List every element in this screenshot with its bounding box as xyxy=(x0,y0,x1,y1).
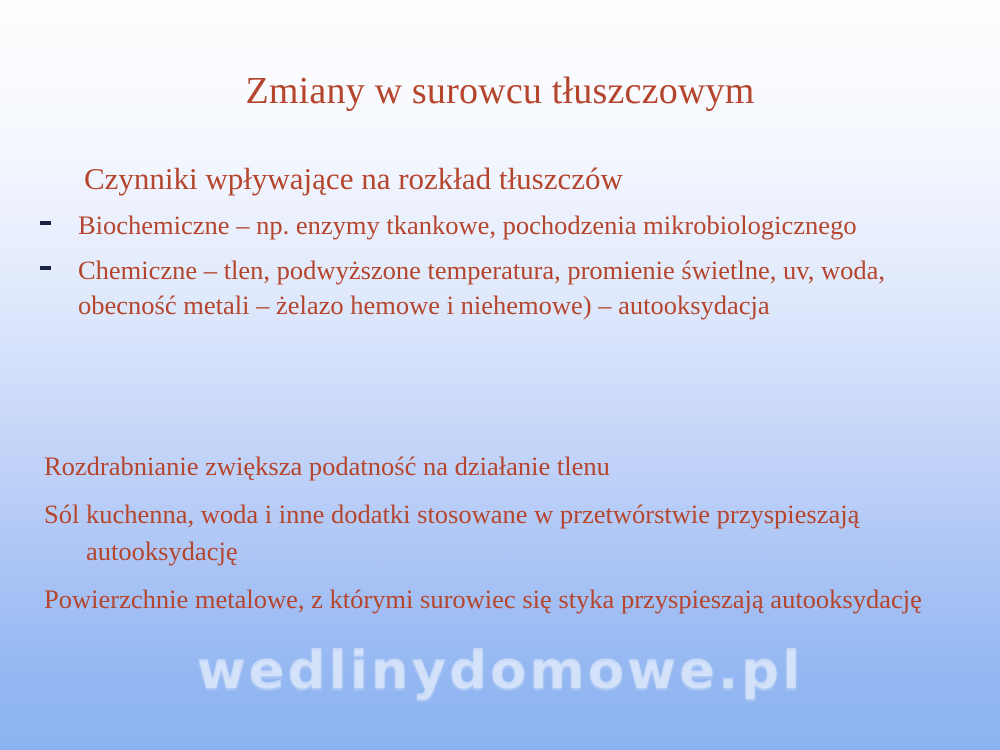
paragraph: Powierzchnie metalowe, z którymi surowie… xyxy=(44,581,974,618)
list-item-text: Biochemiczne – np. enzymy tkankowe, poch… xyxy=(78,208,966,243)
dash-bullet-icon xyxy=(40,266,51,270)
paragraph: Sól kuchenna, woda i inne dodatki stosow… xyxy=(44,496,974,570)
presentation-slide: Zmiany w surowcu tłuszczowym Czynniki wp… xyxy=(0,0,1000,750)
paragraph: Rozdrabnianie zwiększa podatność na dzia… xyxy=(44,448,974,485)
bullet-list: Biochemiczne – np. enzymy tkankowe, poch… xyxy=(36,208,966,333)
list-item: Chemiczne – tlen, podwyższone temperatur… xyxy=(36,253,966,323)
list-item: Biochemiczne – np. enzymy tkankowe, poch… xyxy=(36,208,966,243)
slide-subtitle: Czynniki wpływające na rozkład tłuszczów xyxy=(84,160,623,198)
slide-title: Zmiany w surowcu tłuszczowym xyxy=(0,68,1000,114)
paragraph-block: Rozdrabnianie zwiększa podatność na dzia… xyxy=(44,448,974,629)
dash-bullet-icon xyxy=(40,221,51,225)
list-item-text: Chemiczne – tlen, podwyższone temperatur… xyxy=(78,253,966,323)
site-watermark: wedlinydomowe.pl xyxy=(0,640,1000,702)
